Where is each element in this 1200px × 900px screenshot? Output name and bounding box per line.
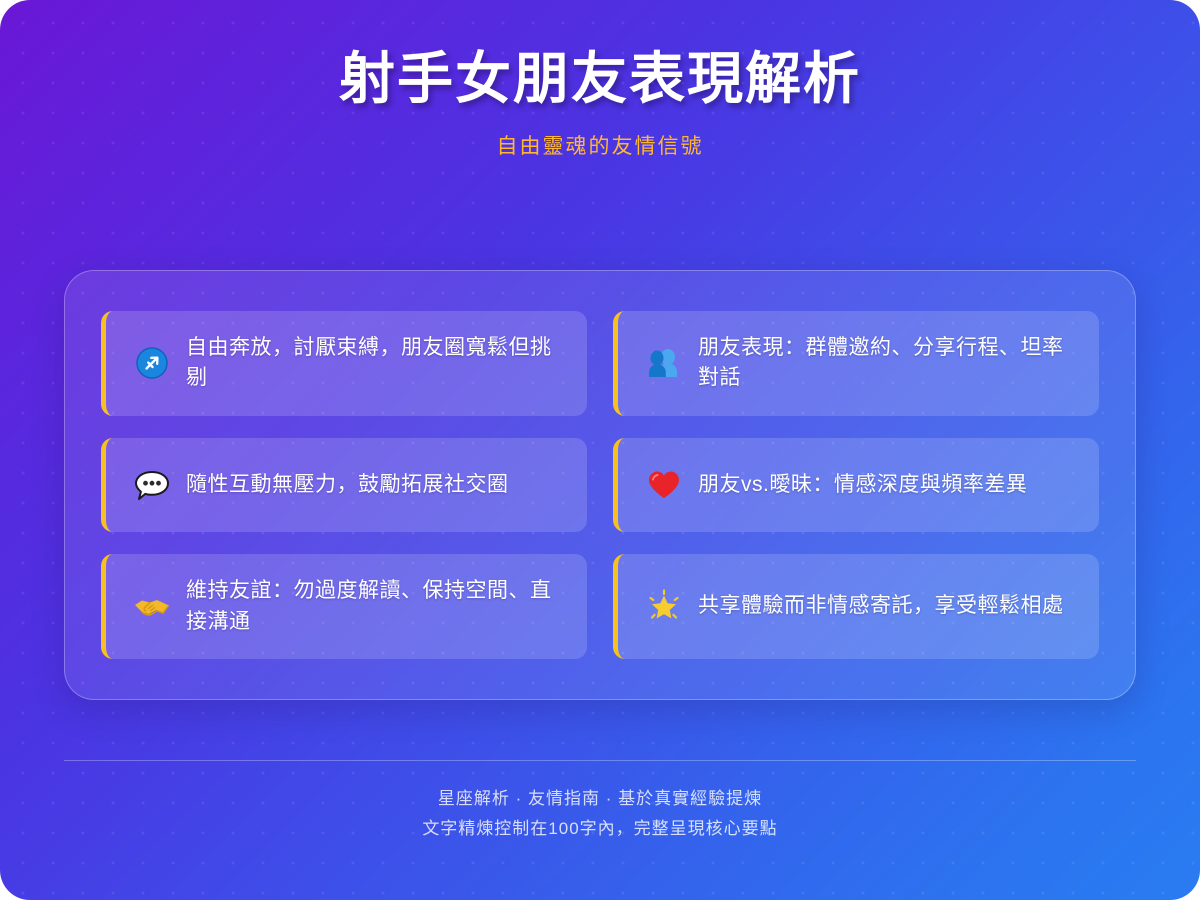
handshake-icon [132,587,172,627]
two-people-icon [644,343,684,383]
list-item-label: 共享體驗而非情感寄託，享受輕鬆相處 [698,591,1064,621]
list-item-label: 朋友表現：群體邀約、分享行程、坦率對話 [698,333,1081,394]
list-item-label: 隨性互動無壓力，鼓勵拓展社交圈 [186,470,509,500]
list-item[interactable]: 自由奔放，討厭束縛，朋友圈寬鬆但挑剔 [101,311,587,416]
list-item[interactable]: 維持友誼：勿過度解讀、保持空間、直接溝通 [101,554,587,659]
footer-line-1: 星座解析 · 友情指南 · 基於真實經驗提煉 [0,784,1200,814]
footer-line-2: 文字精煉控制在100字內，完整呈現核心要點 [0,814,1200,844]
content-panel: 自由奔放，討厭束縛，朋友圈寬鬆但挑剔 朋友表現：群體邀約、分享行程、坦率對話 [64,270,1136,700]
list-item-label: 自由奔放，討厭束縛，朋友圈寬鬆但挑剔 [186,333,569,394]
page-title: 射手女朋友表現解析 [0,48,1200,111]
list-item-label: 維持友誼：勿過度解讀、保持空間、直接溝通 [186,576,569,637]
red-heart-icon [644,465,684,505]
poster-canvas: 射手女朋友表現解析 自由靈魂的友情信號 自由奔放，討厭束縛，朋友圈寬鬆但挑剔 [0,0,1200,900]
sagittarius-icon [132,343,172,383]
poster-header: 射手女朋友表現解析 自由靈魂的友情信號 [0,0,1200,160]
speech-bubble-icon [132,465,172,505]
page-subtitle: 自由靈魂的友情信號 [0,133,1200,160]
list-item[interactable]: 共享體驗而非情感寄託，享受輕鬆相處 [613,554,1099,659]
poster-footer: 星座解析 · 友情指南 · 基於真實經驗提煉 文字精煉控制在100字內，完整呈現… [0,784,1200,844]
footer-divider [64,760,1136,761]
list-item[interactable]: 隨性互動無壓力，鼓勵拓展社交圈 [101,438,587,532]
glowing-star-icon [644,587,684,627]
list-item-label: 朋友vs.曖昧：情感深度與頻率差異 [698,470,1027,500]
list-item[interactable]: 朋友表現：群體邀約、分享行程、坦率對話 [613,311,1099,416]
card-grid: 自由奔放，討厭束縛，朋友圈寬鬆但挑剔 朋友表現：群體邀約、分享行程、坦率對話 [101,311,1099,659]
list-item[interactable]: 朋友vs.曖昧：情感深度與頻率差異 [613,438,1099,532]
